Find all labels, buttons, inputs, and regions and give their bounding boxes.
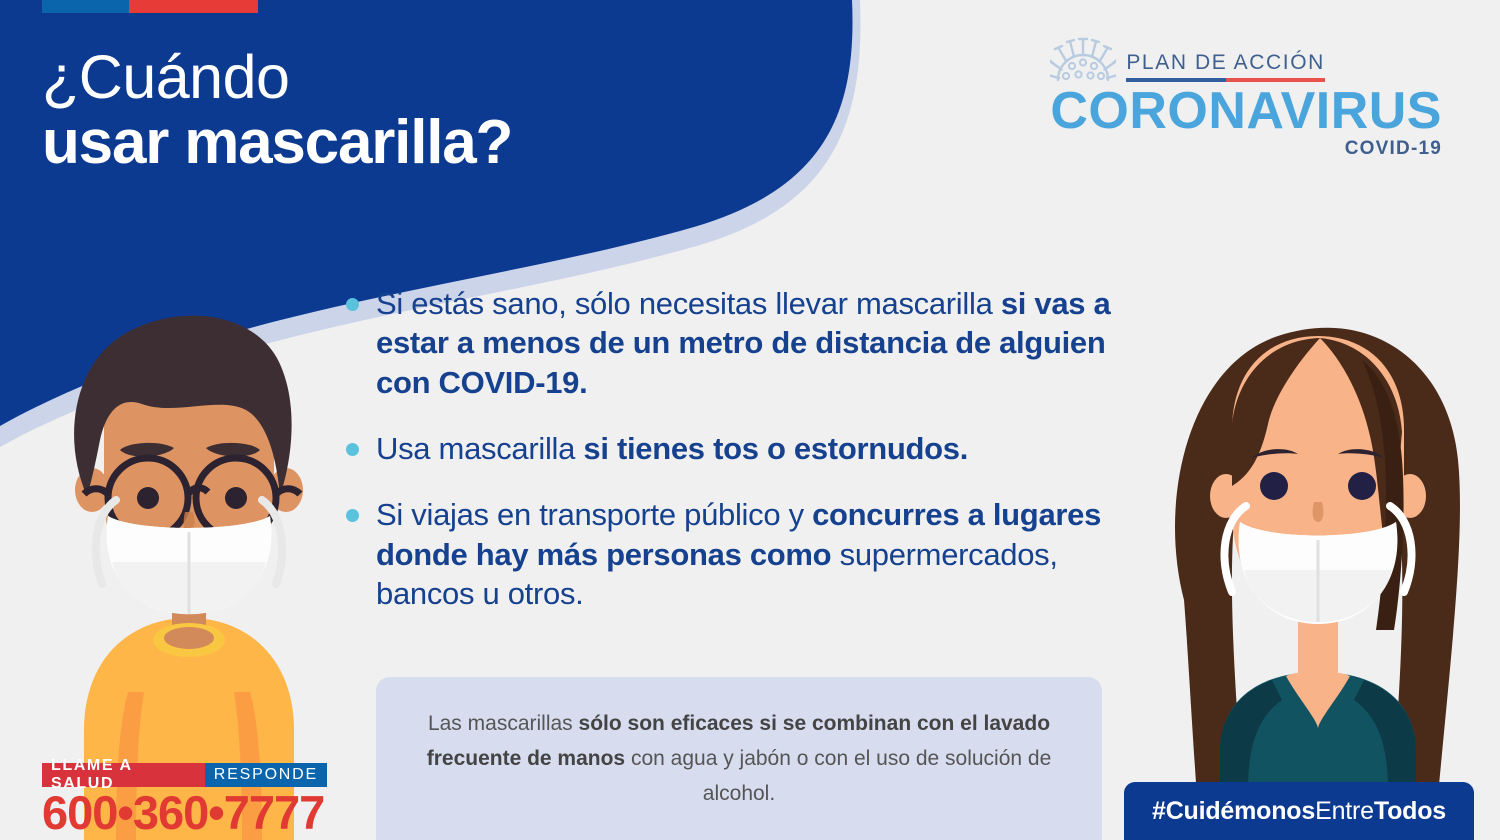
poster-root: ¿Cuándo usar mascarilla? <box>0 0 1500 840</box>
flag-red-segment <box>129 0 258 13</box>
bullet-list: Si estás sano, sólo necesitas llevar mas… <box>346 284 1146 614</box>
illustration-woman-with-mask <box>1148 300 1488 840</box>
phone-number: 600•360•7777 <box>42 788 327 838</box>
note-box: Las mascarillas sólo son eficaces si se … <box>376 677 1102 840</box>
note-text: Las mascarillas sólo son eficaces si se … <box>418 706 1060 812</box>
salud-responde-badge: LLAME A SALUD RESPONDE 600•360•7777 <box>42 763 327 838</box>
plan-de-accion-label: PLAN DE ACCIÓN <box>1126 52 1325 73</box>
salud-responde-strip: LLAME A SALUD RESPONDE <box>42 763 327 787</box>
flag-blue-segment <box>42 0 129 13</box>
coronavirus-virus-icon <box>1050 36 1116 82</box>
bullet-text-3: Si viajas en transporte público y concur… <box>376 495 1146 613</box>
bullet-text-2: Usa mascarilla si tienes tos o estornudo… <box>376 429 968 468</box>
hashtag-banner: #CuidémonosEntreTodos <box>1124 782 1474 840</box>
title-line-1: ¿Cuándo <box>42 46 512 108</box>
list-item: Usa mascarilla si tienes tos o estornudo… <box>346 429 1146 468</box>
page-title: ¿Cuándo usar mascarilla? <box>42 46 512 177</box>
bullet-dot-icon <box>346 443 359 456</box>
bullet-dot-icon <box>346 509 359 522</box>
covid-19-label: COVID-19 <box>1050 138 1442 160</box>
title-line-2: usar mascarilla? <box>42 110 512 177</box>
bullet-text-1: Si estás sano, sólo necesitas llevar mas… <box>376 284 1146 402</box>
chile-flag-bar <box>42 0 258 13</box>
list-item: Si estás sano, sólo necesitas llevar mas… <box>346 284 1146 402</box>
list-item: Si viajas en transporte público y concur… <box>346 495 1146 613</box>
responde-label: RESPONDE <box>205 763 327 787</box>
coronavirus-logo: PLAN DE ACCIÓN CORONAVIRUS COVID-19 <box>1050 36 1442 160</box>
llame-a-salud-label: LLAME A SALUD <box>42 763 205 787</box>
hashtag-text: #CuidémonosEntreTodos <box>1152 797 1446 826</box>
coronavirus-wordmark: CORONAVIRUS <box>1050 85 1442 137</box>
bullet-dot-icon <box>346 298 359 311</box>
